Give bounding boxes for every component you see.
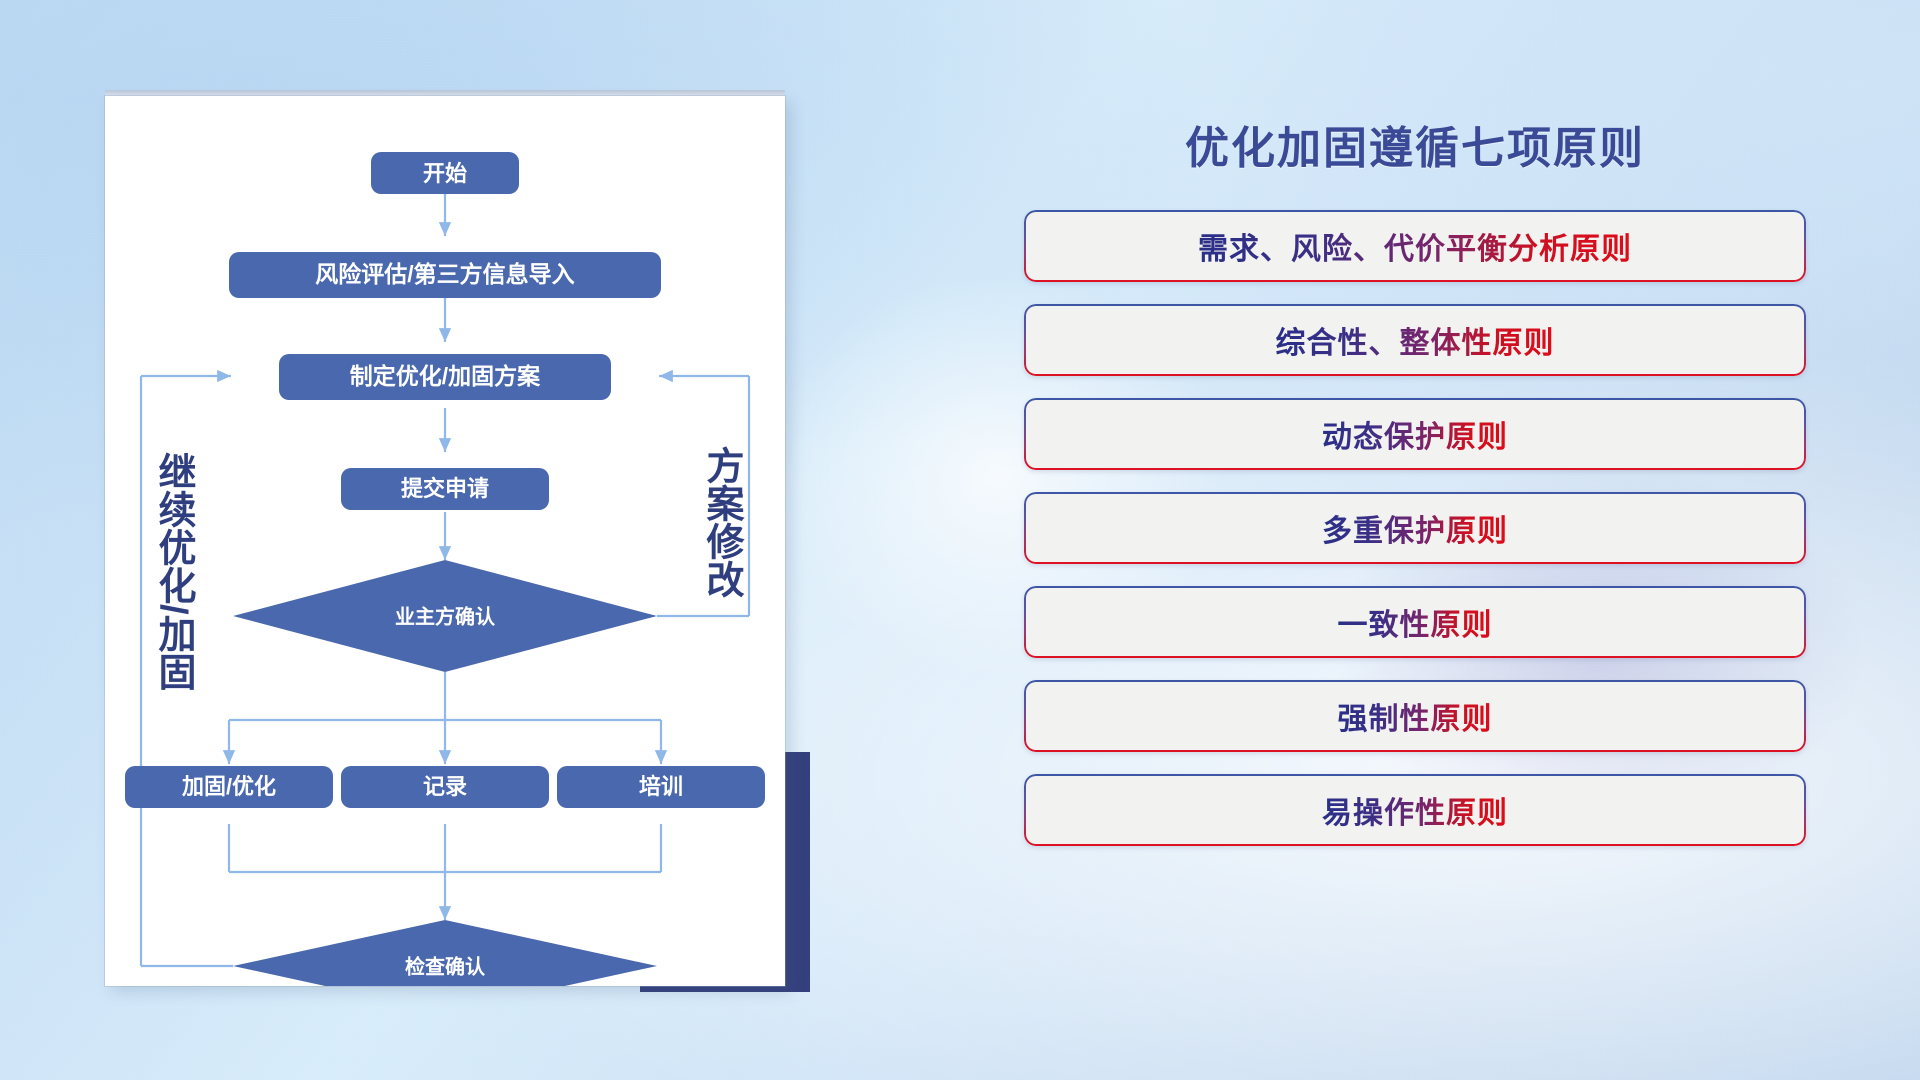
flow-node-label: 记录 — [423, 774, 467, 799]
flow-node-label: 业主方确认 — [395, 604, 496, 628]
principle-label: 综合性、整体性原则 — [1276, 318, 1555, 362]
flow-node-label: 风险评估/第三方信息导入 — [315, 261, 574, 287]
flowchart-diagram: 开始 风险评估/第三方信息导入 制定优化/加固方案 提交申请 业主方确认 — [105, 96, 785, 986]
flow-node-risk-assessment[interactable]: 风险评估/第三方信息导入 — [229, 252, 661, 298]
flow-node-submit-application[interactable]: 提交申请 — [341, 468, 549, 510]
page-title: 优化加固遵循七项原则 — [1000, 112, 1830, 176]
principle-label: 强制性原则 — [1338, 694, 1493, 738]
flow-edge-label-continue-optimize: 继续优化/加固 — [152, 452, 196, 691]
flow-node-label: 检查确认 — [405, 954, 486, 978]
principle-card-2[interactable]: 综合性、整体性原则 — [1024, 304, 1806, 376]
principle-label: 一致性原则 — [1338, 600, 1493, 644]
flow-node-check-confirm[interactable]: 检查确认 — [233, 920, 657, 986]
flow-node-label: 制定优化/加固方案 — [350, 363, 541, 389]
principle-card-4[interactable]: 多重保护原则 — [1024, 492, 1806, 564]
flow-node-label: 培训 — [639, 774, 683, 799]
flow-node-owner-confirm[interactable]: 业主方确认 — [233, 560, 657, 672]
flow-node-label: 加固/优化 — [181, 774, 276, 799]
principle-card-3[interactable]: 动态保护原则 — [1024, 398, 1806, 470]
flow-node-reinforce-optimize[interactable]: 加固/优化 — [125, 766, 333, 808]
principle-card-7[interactable]: 易操作性原则 — [1024, 774, 1806, 846]
principles-panel: 优化加固遵循七项原则 需求、风险、代价平衡分析原则 综合性、整体性原则 动态保护… — [1000, 96, 1830, 996]
flow-node-record[interactable]: 记录 — [341, 766, 549, 808]
principle-card-5[interactable]: 一致性原则 — [1024, 586, 1806, 658]
principle-label: 易操作性原则 — [1322, 788, 1508, 832]
flow-node-label: 开始 — [423, 161, 467, 186]
flowchart-document-panel: 开始 风险评估/第三方信息导入 制定优化/加固方案 提交申请 业主方确认 — [105, 96, 785, 986]
principle-label: 多重保护原则 — [1322, 506, 1508, 550]
flow-node-make-plan[interactable]: 制定优化/加固方案 — [279, 354, 611, 400]
flow-node-label: 提交申请 — [401, 476, 489, 501]
principle-card-6[interactable]: 强制性原则 — [1024, 680, 1806, 752]
flow-edge-label-plan-revision: 方案修改 — [700, 446, 744, 598]
flow-node-start[interactable]: 开始 — [371, 152, 519, 194]
principle-label: 需求、风险、代价平衡分析原则 — [1198, 224, 1632, 268]
principles-list: 需求、风险、代价平衡分析原则 综合性、整体性原则 动态保护原则 多重保护原则 一… — [1000, 210, 1830, 846]
principle-label: 动态保护原则 — [1322, 412, 1508, 456]
flow-node-training[interactable]: 培训 — [557, 766, 765, 808]
principle-card-1[interactable]: 需求、风险、代价平衡分析原则 — [1024, 210, 1806, 282]
